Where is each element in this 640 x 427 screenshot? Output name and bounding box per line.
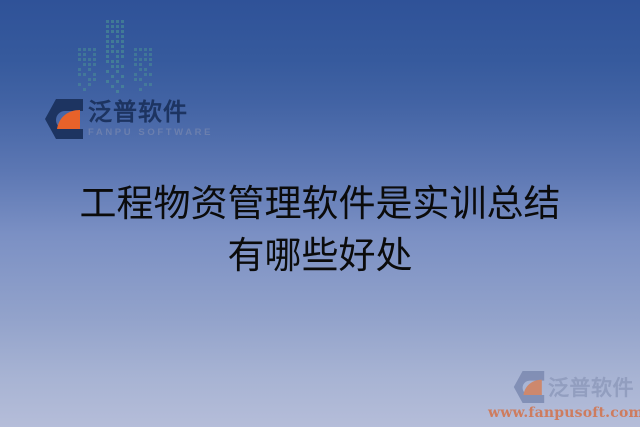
fanpu-hexagon-swoosh-icon: [513, 370, 545, 404]
fanpu-emblem-svg: [44, 98, 84, 140]
brand-logo: 泛普软件 FANPU SOFTWARE: [44, 98, 213, 140]
page-title-line-1: 工程物资管理软件是实训总结: [0, 178, 640, 230]
watermark-name-cn: 泛普软件: [548, 372, 634, 402]
brand-name-cn: 泛普软件: [88, 100, 213, 124]
watermark-url: www.fanpusoft.com: [488, 405, 634, 421]
page-title: 工程物资管理软件是实训总结 有哪些好处: [0, 178, 640, 282]
watermark: 泛普软件 www.fanpusoft.com: [488, 370, 634, 421]
fanpu-hexagon-swoosh-icon: [44, 98, 84, 140]
page-title-line-2: 有哪些好处: [0, 230, 640, 282]
promo-banner: 泛普软件 FANPU SOFTWARE 工程物资管理软件是实训总结 有哪些好处 …: [0, 0, 640, 427]
pixel-cityscape-svg: [70, 18, 162, 96]
pixel-cityscape-icon: [70, 18, 162, 96]
watermark-emblem-svg: [513, 370, 545, 404]
watermark-logo: 泛普软件: [488, 370, 634, 404]
brand-name-en: FANPU SOFTWARE: [88, 128, 213, 138]
brand-wordmark: 泛普软件 FANPU SOFTWARE: [88, 100, 213, 138]
